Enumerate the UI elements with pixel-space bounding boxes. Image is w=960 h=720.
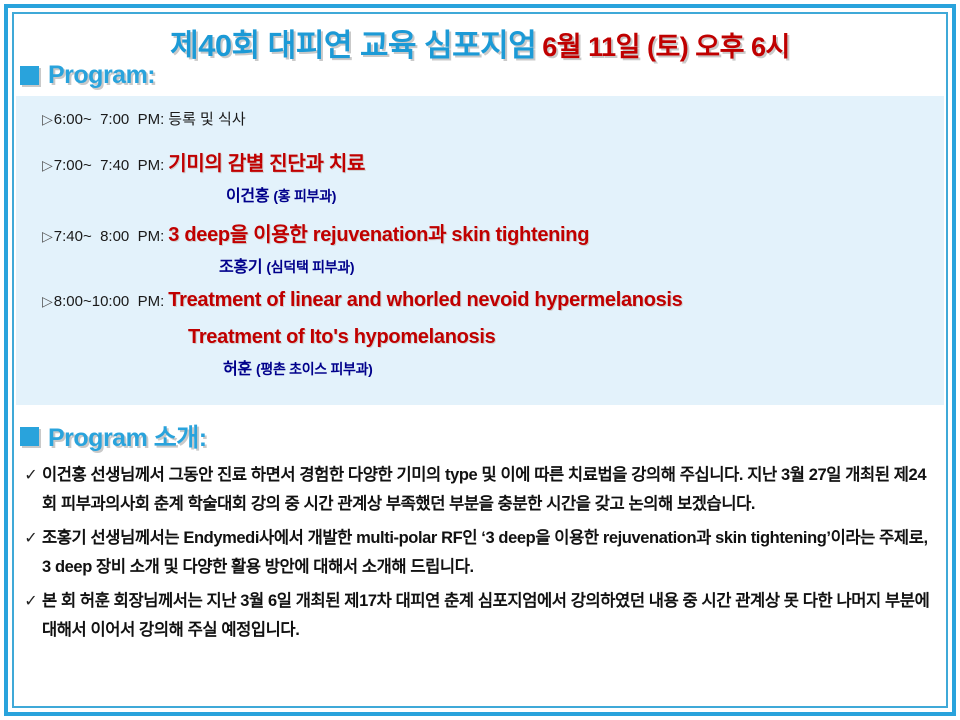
title-main-text: 제40회 대피연 교육 심포지엄 [170,28,536,63]
program-item-time: 8:00~10:00 PM: [54,293,165,310]
square-bullet-icon [20,66,39,85]
slide-title: 제40회 대피연 교육 심포지엄6월 11일 (토) 오후 6시 [16,16,944,65]
program-item-topic: 등록 및 식사 [168,108,245,129]
program-item: ▷ 7:40~ 8:00 PM: 3 deep을 이용한 rejuvenatio… [16,218,944,247]
intro-heading: Program 소개: [16,418,944,454]
slide-root: 제40회 대피연 교육 심포지엄6월 11일 (토) 오후 6시 Program… [0,0,960,720]
check-icon: ✓ [20,524,42,553]
triangle-bullet-icon: ▷ [42,112,53,126]
speaker-name: 이건홍 [226,188,269,205]
program-item: ▷ 7:00~ 7:40 PM: 기미의 감별 진단과 치료 [16,147,944,176]
slide-content: 제40회 대피연 교육 심포지엄6월 11일 (토) 오후 6시 Program… [16,16,944,704]
check-icon: ✓ [20,587,42,616]
program-item-topic: 3 deep을 이용한 rejuvenation과 skin tightenin… [168,218,589,247]
program-item-time: 7:00~ 7:40 PM: [54,157,165,174]
square-bullet-icon [20,427,39,446]
program-item-topic: 기미의 감별 진단과 치료 [168,147,365,176]
program-item-time: 7:40~ 8:00 PM: [54,228,165,245]
program-item-speaker: 조홍기 (심덕택 피부과) [16,253,944,277]
intro-list: ✓ 이건홍 선생님께서 그동안 진료 하면서 경험한 다양한 기미의 type … [16,461,944,645]
intro-item-text: 조홍기 선생님께서는 Endymedi사에서 개발한 multi-polar R… [42,524,930,582]
program-heading: Program: [16,61,944,90]
speaker-affiliation: (홍 피부과) [273,188,336,204]
program-item-time: 6:00~ 7:00 PM: [54,111,165,128]
intro-item-text: 본 회 허훈 회장님께서는 지난 3월 6일 개최된 제17차 대피연 춘계 심… [42,587,930,645]
program-item-speaker: 이건홍 (홍 피부과) [16,182,944,206]
triangle-bullet-icon: ▷ [42,229,53,243]
title-date-text: 6월 11일 (토) 오후 6시 [542,32,790,62]
program-item-speaker: 허훈 (평촌 초이스 피부과) [16,355,944,379]
triangle-bullet-icon: ▷ [42,158,53,172]
speaker-name: 조홍기 [219,259,262,276]
program-item: ▷ 8:00~10:00 PM: Treatment of linear and… [16,289,944,312]
check-icon: ✓ [20,461,42,490]
program-item: ▷ 6:00~ 7:00 PM: 등록 및 식사 [16,108,944,129]
program-item-topic: Treatment of linear and whorled nevoid h… [168,289,682,312]
program-heading-label: Program: [48,61,155,90]
speaker-affiliation: (평촌 초이스 피부과) [256,361,373,377]
program-item-topic-second: Treatment of Ito's hypomelanosis [16,326,944,349]
speaker-affiliation: (심덕택 피부과) [266,259,354,275]
intro-list-item: ✓ 조홍기 선생님께서는 Endymedi사에서 개발한 multi-polar… [20,524,930,582]
intro-list-item: ✓ 이건홍 선생님께서 그동안 진료 하면서 경험한 다양한 기미의 type … [20,461,930,519]
triangle-bullet-icon: ▷ [42,294,53,308]
speaker-name: 허훈 [223,361,252,378]
intro-heading-label: Program 소개: [48,418,207,454]
program-panel: ▷ 6:00~ 7:00 PM: 등록 및 식사 ▷ 7:00~ 7:40 PM… [16,96,944,405]
intro-list-item: ✓ 본 회 허훈 회장님께서는 지난 3월 6일 개최된 제17차 대피연 춘계… [20,587,930,645]
intro-item-text: 이건홍 선생님께서 그동안 진료 하면서 경험한 다양한 기미의 type 및 … [42,461,930,519]
